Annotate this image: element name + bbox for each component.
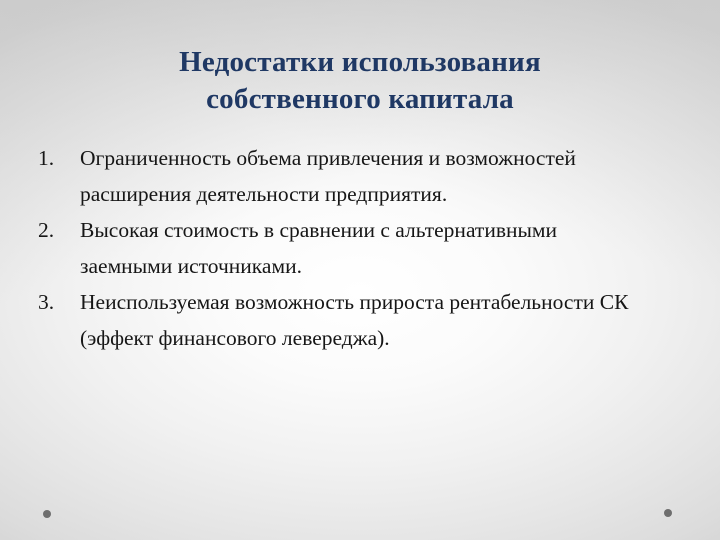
slide-title: Недостатки использования собственного ка… — [60, 44, 660, 118]
list-item: 2. Высокая стоимость в сравнении с альте… — [34, 212, 634, 284]
list-item: 3. Неиспользуемая возможность прироста р… — [34, 284, 634, 356]
list-item-text: Ограниченность объема привлечения и возм… — [80, 140, 634, 212]
slide-title-line-1: Недостатки использования — [60, 44, 660, 81]
slide-title-line-2: собственного капитала — [60, 81, 660, 118]
numbered-list: 1. Ограниченность объема привлечения и в… — [34, 140, 634, 356]
list-item-marker: 3. — [38, 284, 68, 320]
slide-body: 1. Ограниченность объема привлечения и в… — [34, 140, 634, 356]
list-item-text: Неиспользуемая возможность прироста рент… — [80, 284, 634, 356]
decorative-dot-left-icon — [43, 510, 51, 518]
list-item-marker: 2. — [38, 212, 68, 248]
list-item-text: Высокая стоимость в сравнении с альтерна… — [80, 212, 634, 284]
slide-canvas: Недостатки использования собственного ка… — [0, 0, 720, 540]
decorative-dot-right-icon — [664, 509, 672, 517]
list-item: 1. Ограниченность объема привлечения и в… — [34, 140, 634, 212]
list-item-marker: 1. — [38, 140, 68, 176]
